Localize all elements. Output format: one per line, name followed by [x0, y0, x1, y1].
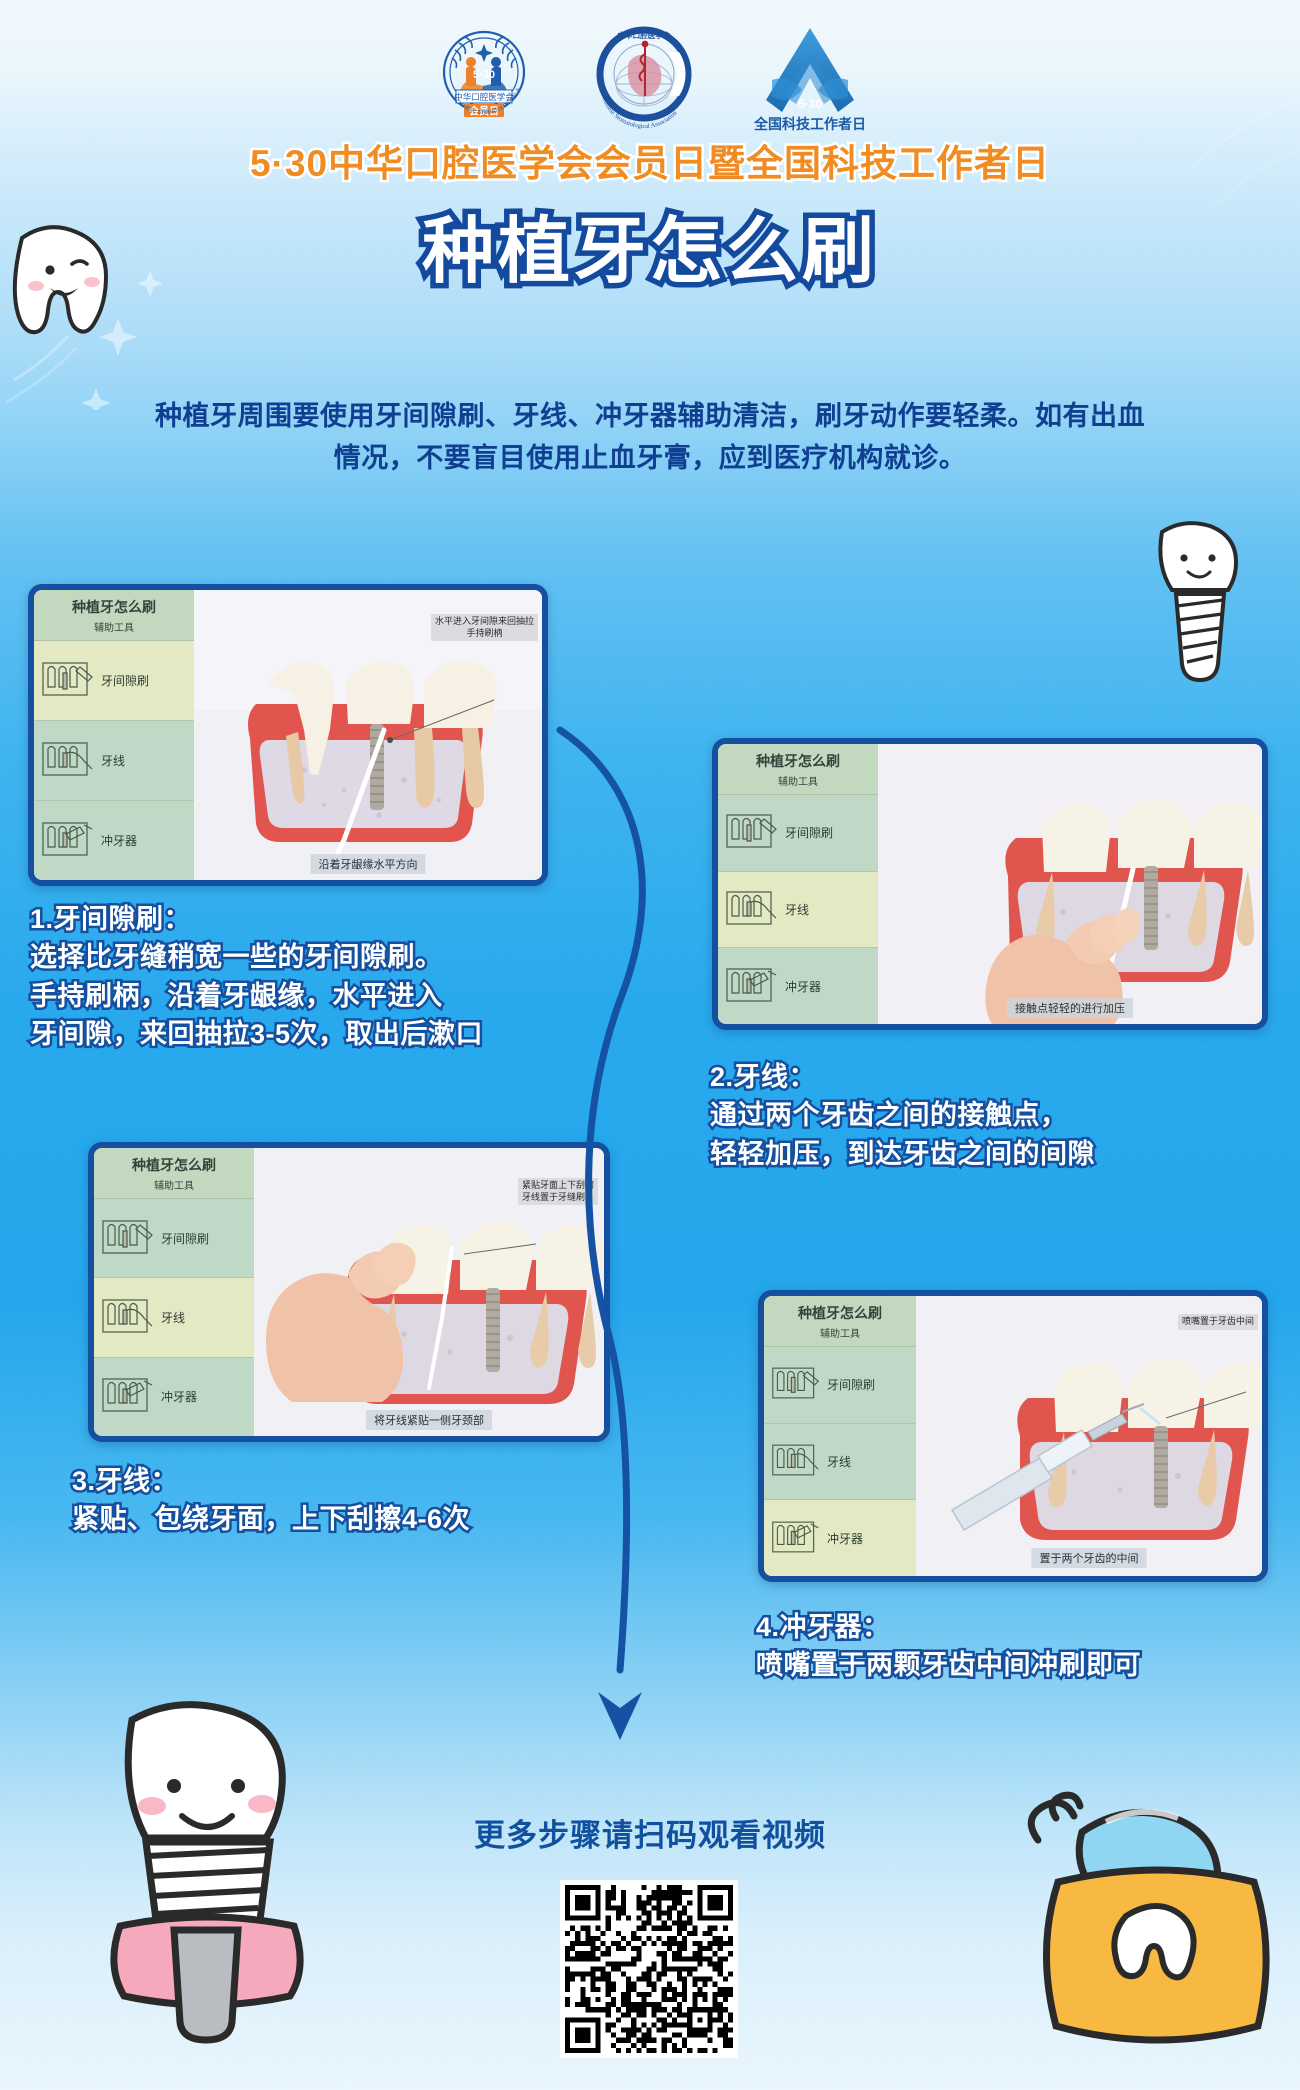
interdental-brush-icon [770, 1364, 822, 1405]
tool-menu-item-interdental-brush[interactable]: 牙间隙刷 [94, 1199, 254, 1278]
tool-menu: 种植牙怎么刷 辅助工具 牙间隙刷 牙线 [34, 590, 194, 880]
tooth-mascot-top-left [0, 208, 142, 363]
tool-menu-subtitle: 辅助工具 [770, 1325, 910, 1340]
dental-model-illustration-4 [916, 1296, 1262, 1576]
step-2-body-line: 通过两个牙齿之间的接触点， [710, 1096, 1290, 1134]
step-2-text: 2.牙线： 通过两个牙齿之间的接触点， 轻轻加压，到达牙齿之间的间隙 [710, 1058, 1290, 1173]
tool-menu-item-dental-floss[interactable]: 牙线 [764, 1424, 916, 1501]
photo-caption-4: 置于两个牙齿的中间 [1032, 1548, 1147, 1568]
tool-menu-title: 种植牙怎么刷 [724, 751, 872, 771]
svg-text:中华口腔医学会: 中华口腔医学会 [454, 92, 514, 102]
step-3-heading: 3.牙线： [72, 1462, 672, 1500]
photo-step-3: 紧贴牙面上下刮擦 牙线置于牙缝刷 将牙线紧贴一侧牙颈部 [254, 1148, 604, 1436]
annotation-box-3: 紧贴牙面上下刮擦 牙线置于牙缝刷 [518, 1178, 598, 1205]
tool-menu-item-dental-floss[interactable]: 牙线 [34, 721, 194, 801]
svg-text:5·30: 5·30 [473, 69, 495, 81]
tool-menu-item-interdental-brush[interactable]: 牙间隙刷 [764, 1347, 916, 1424]
svg-text:全国科技工作者日: 全国科技工作者日 [753, 116, 866, 132]
annotation-line: 牙线置于牙缝刷 [522, 1192, 594, 1204]
tool-menu: 种植牙怎么刷 辅助工具 牙间隙刷 牙线 [764, 1296, 916, 1576]
photo-caption-2: 接触点轻轻的进行加压 [1007, 998, 1133, 1018]
tool-menu-title: 种植牙怎么刷 [770, 1303, 910, 1323]
annotation-box-1: 水平进入牙间隙来回抽拉 手持刷柄 [431, 614, 538, 641]
card-step-2: 种植牙怎么刷 辅助工具 牙间隙刷 牙线 [712, 738, 1268, 1030]
interdental-brush-icon [100, 1217, 156, 1260]
tool-menu-item-interdental-brush[interactable]: 牙间隙刷 [718, 795, 878, 872]
national-science-workers-day-logo: 5·30 全国科技工作者日 [750, 22, 870, 139]
dental-floss-icon [724, 888, 780, 931]
photo-caption-3: 将牙线紧贴一侧牙颈部 [366, 1410, 492, 1430]
tool-menu-item-water-flosser[interactable]: 冲牙器 [718, 948, 878, 1024]
tool-menu-title: 种植牙怎么刷 [100, 1155, 248, 1175]
step-1-body-line: 选择比牙缝稍宽一些的牙间隙刷。 [30, 938, 650, 976]
logo-row: 5·30 中华口腔医学会 会员日 CHINESE STOMATOLOGICAL … [0, 22, 1300, 139]
tooth-implant-mascot-top-right [1136, 510, 1276, 695]
photo-step-4: 喷嘴置于牙齿中间 置于两个牙齿的中间 [916, 1296, 1262, 1576]
csa-member-day-logo: 5·30 中华口腔医学会 会员日 CHINESE STOMATOLOGICAL … [430, 22, 538, 135]
card-step-3: 种植牙怎么刷 辅助工具 牙间隙刷 牙线 [88, 1142, 610, 1442]
tool-menu-item-dental-floss[interactable]: 牙线 [94, 1278, 254, 1357]
tool-menu-item-label: 冲牙器 [785, 978, 821, 995]
tool-menu-item-label: 牙线 [161, 1309, 185, 1326]
card-step-1: 种植牙怎么刷 辅助工具 牙间隙刷 牙线 [28, 584, 548, 886]
step-3-body-line: 紧贴、包绕牙面，上下刮擦4-6次 [72, 1500, 672, 1538]
tool-menu-item-dental-floss[interactable]: 牙线 [718, 872, 878, 949]
step-3-text: 3.牙线： 紧贴、包绕牙面，上下刮擦4-6次 [72, 1462, 672, 1539]
tool-menu-header: 种植牙怎么刷 辅助工具 [764, 1296, 916, 1347]
intro-paragraph: 种植牙周围要使用牙间隙刷、牙线、冲牙器辅助清洁，刷牙动作要轻柔。如有出血情况，不… [150, 396, 1150, 480]
step-1-body-line: 牙间隙，来回抽拉3-5次，取出后漱口 [30, 1015, 650, 1053]
annotation-line: 喷嘴置于牙齿中间 [1182, 1316, 1254, 1328]
tool-menu-subtitle: 辅助工具 [100, 1177, 248, 1192]
annotation-line: 水平进入牙间隙来回抽拉 [435, 616, 534, 628]
dental-model-illustration-2 [878, 744, 1262, 1024]
dental-floss-icon [40, 739, 96, 782]
tool-menu-title: 种植牙怎么刷 [40, 597, 188, 617]
tool-menu-item-label: 牙间隙刷 [827, 1376, 875, 1393]
tool-menu-subtitle: 辅助工具 [40, 619, 188, 634]
tool-menu-item-label: 冲牙器 [827, 1530, 863, 1547]
tool-menu-item-label: 牙线 [785, 901, 809, 918]
tool-menu-item-label: 冲牙器 [161, 1388, 197, 1405]
water-flosser-icon [40, 819, 96, 862]
tool-menu: 种植牙怎么刷 辅助工具 牙间隙刷 牙线 [94, 1148, 254, 1436]
tool-menu-item-label: 冲牙器 [101, 832, 137, 849]
step-4-heading: 4.冲牙器： [756, 1608, 1300, 1646]
tooth-implant-mascot-bottom-left [86, 1690, 326, 2055]
tool-menu-item-label: 牙线 [101, 752, 125, 769]
card-step-4: 种植牙怎么刷 辅助工具 牙间隙刷 牙线 [758, 1290, 1268, 1582]
photo-step-2: 接触点轻轻的进行加压 [878, 744, 1262, 1024]
interdental-brush-icon [40, 659, 96, 702]
tool-menu-item-water-flosser[interactable]: 冲牙器 [94, 1358, 254, 1436]
step-1-text: 1.牙间隙刷： 选择比牙缝稍宽一些的牙间隙刷。 手持刷柄，沿着牙龈缘，水平进入 … [30, 900, 650, 1053]
qr-code-graphic [565, 1885, 733, 2053]
page-title: 种植牙怎么刷 [0, 192, 1300, 297]
dental-floss-icon [770, 1441, 822, 1482]
tool-menu-item-label: 牙间隙刷 [785, 824, 833, 841]
annotation-line: 手持刷柄 [435, 628, 534, 640]
annotation-box-4: 喷嘴置于牙齿中间 [1178, 1314, 1258, 1330]
photo-caption-1: 沿着牙龈缘水平方向 [311, 854, 426, 874]
step-1-heading: 1.牙间隙刷： [30, 900, 650, 938]
tool-menu-item-label: 牙间隙刷 [101, 672, 149, 689]
floss-box-mascot-bottom-right [996, 1766, 1286, 2071]
step-1-body-line: 手持刷柄，沿着牙龈缘，水平进入 [30, 977, 650, 1015]
step-4-text: 4.冲牙器： 喷嘴置于两颗牙齿中间冲刷即可 [756, 1608, 1300, 1685]
photo-step-1: 水平进入牙间隙来回抽拉 手持刷柄 沿着牙龈缘水平方向 [194, 590, 542, 880]
tool-menu-item-label: 牙线 [827, 1453, 851, 1470]
step-4-body-line: 喷嘴置于两颗牙齿中间冲刷即可 [756, 1646, 1300, 1684]
interdental-brush-icon [724, 811, 780, 854]
water-flosser-icon [100, 1375, 156, 1418]
annotation-line: 紧贴牙面上下刮擦 [522, 1180, 594, 1192]
svg-text:5·30: 5·30 [798, 97, 822, 111]
tool-menu-header: 种植牙怎么刷 辅助工具 [718, 744, 878, 795]
tool-menu-item-water-flosser[interactable]: 冲牙器 [34, 801, 194, 880]
tool-menu-header: 种植牙怎么刷 辅助工具 [34, 590, 194, 641]
tool-menu-item-water-flosser[interactable]: 冲牙器 [764, 1500, 916, 1576]
step-2-heading: 2.牙线： [710, 1058, 1290, 1096]
video-qr-code[interactable] [560, 1880, 738, 2058]
chinese-stomatological-association-logo: 中华口腔医学会 Chinese Stomatological Associati… [584, 22, 704, 135]
tool-menu-header: 种植牙怎么刷 辅助工具 [94, 1148, 254, 1199]
dental-floss-icon [100, 1296, 156, 1339]
banner-title: 5·30中华口腔医学会会员日暨全国科技工作者日 [0, 133, 1300, 187]
water-flosser-icon [724, 965, 780, 1008]
tool-menu-item-label: 牙间隙刷 [161, 1230, 209, 1247]
water-flosser-icon [770, 1518, 822, 1559]
tool-menu-item-interdental-brush[interactable]: 牙间隙刷 [34, 641, 194, 721]
tool-menu: 种植牙怎么刷 辅助工具 牙间隙刷 牙线 [718, 744, 878, 1024]
svg-text:中华口腔医学会: 中华口腔医学会 [617, 30, 671, 40]
step-2-body-line: 轻轻加压，到达牙齿之间的间隙 [710, 1135, 1290, 1173]
tool-menu-subtitle: 辅助工具 [724, 773, 872, 788]
